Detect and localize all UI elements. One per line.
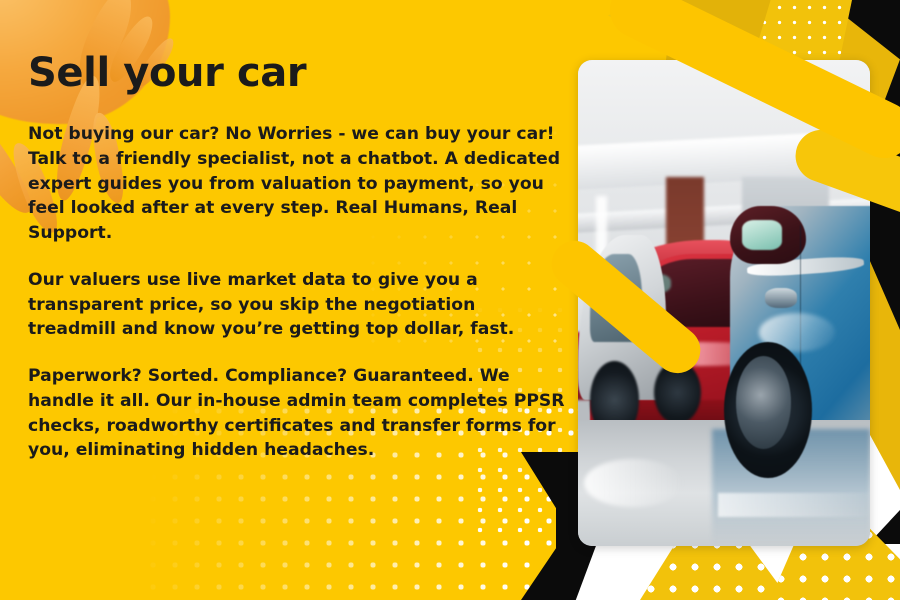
- blue-car-mirror-glass: [742, 220, 783, 249]
- floor-highlight-band: [718, 493, 870, 517]
- page-title: Sell your car: [28, 52, 568, 94]
- body-paragraph-2: Our valuers use live market data to give…: [28, 268, 568, 342]
- floor-reflection-white: [584, 459, 683, 508]
- body-paragraph-3: Paperwork? Sorted. Compliance? Guarantee…: [28, 364, 568, 463]
- blue-car-door-handle: [765, 288, 797, 307]
- poster-text-content: Sell your car Not buying our car? No Wor…: [28, 52, 568, 463]
- sell-your-car-poster: Sell your car Not buying our car? No Wor…: [0, 0, 900, 600]
- blue-car-wheel-rim: [736, 356, 791, 448]
- body-paragraph-1: Not buying our car? No Worries - we can …: [28, 122, 568, 246]
